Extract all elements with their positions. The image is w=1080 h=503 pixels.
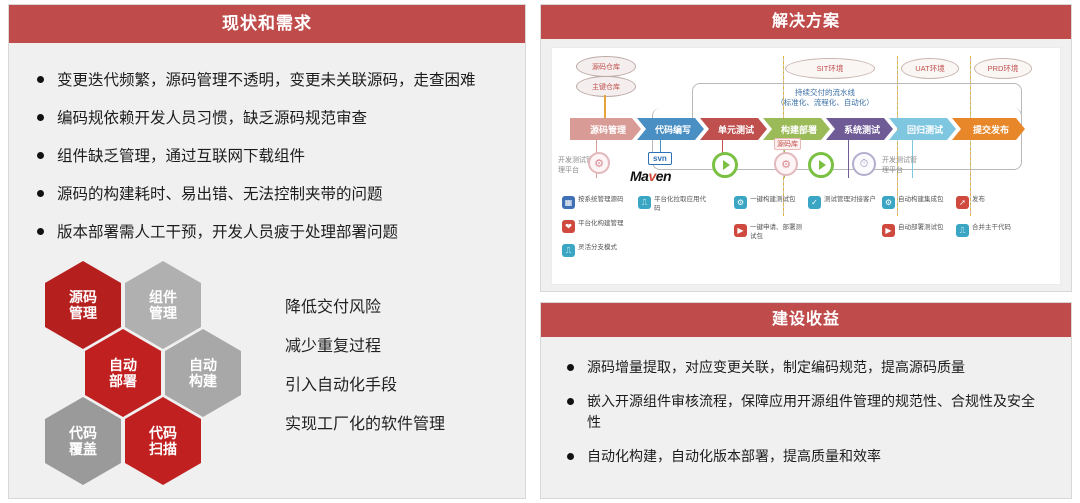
feature-label: 发布 xyxy=(972,196,985,205)
env-ellipse-prd: PRD环境 xyxy=(974,58,1032,79)
solution-pipeline-diagram: 源码仓库 主键仓库 SIT环境 UAT环境 PRD环境 持续交付的流水线 （标准… xyxy=(551,47,1061,285)
list-item: 版本部署需人工干预，开发人员疲于处理部署问题 xyxy=(35,221,503,245)
svn-badge: svn xyxy=(648,152,672,165)
hexagon-label-line1: 代码 xyxy=(69,425,97,441)
panel-current-status: 现状和需求 变更迭代频繁，源码管理不透明，变更未关联源码，走查困难 编码规依赖开… xyxy=(8,4,526,499)
feature-item: ➚ 发布 xyxy=(956,196,985,209)
benefits-bullet-list: 源码增量提取，对应变更关联，制定编码规范，提高源码质量 嵌入开源组件审核流程，保… xyxy=(541,337,1071,468)
hexagon-label-line1: 自动 xyxy=(109,357,137,373)
hexagon-label-line1: 源码 xyxy=(69,289,97,305)
hexagon-auto-deploy: 自动 部署 xyxy=(85,329,161,417)
current-status-bullet-list: 变更迭代频繁，源码管理不透明，变更未关联源码，走查困难 编码规依赖开发人员习惯，… xyxy=(9,43,525,245)
feature-item: ❤ 平台化构建管理 xyxy=(562,220,624,233)
source-repo-tag: 源码库 xyxy=(774,138,801,150)
panel-right-top-title: 解决方案 xyxy=(541,5,1071,39)
play-icon xyxy=(712,152,738,178)
play-icon xyxy=(808,152,834,178)
feature-label: 灵活分支模式 xyxy=(578,244,617,253)
hexagon-label-line2: 管理 xyxy=(69,305,97,321)
hexagon-label-line1: 组件 xyxy=(149,289,177,305)
list-item: 源码增量提取，对应变更关联，制定编码规范，提高源码质量 xyxy=(565,357,1045,379)
pipeline-stage-row: 源码管理 代码编写 单元测试 构建部署 系统测试 回归测试 提交发布 xyxy=(570,118,1021,140)
feature-label: 测试管理对接客户 xyxy=(824,196,876,205)
feature-item: ▦ 按系统管理源码 xyxy=(562,196,624,209)
hexagon-label-line1: 代码 xyxy=(149,425,177,441)
list-item: 变更迭代频繁，源码管理不透明，变更未关联源码，走查困难 xyxy=(35,69,503,93)
env-ellipse-sit: SIT环境 xyxy=(785,58,875,79)
stage-source-management: 源码管理 xyxy=(570,118,641,140)
hexagon-source-code-management: 源码 管理 xyxy=(45,261,121,349)
gauge-icon: ⏱ xyxy=(852,152,876,176)
repo-ellipse-source: 源码仓库 xyxy=(576,56,636,77)
stage-regression-test: 回归测试 xyxy=(889,118,956,140)
benefit-line: 实现工厂化的软件管理 xyxy=(285,410,445,434)
feature-label: 自动部署测试包 xyxy=(898,224,944,233)
stage-code-writing: 代码编写 xyxy=(637,118,704,140)
hexagon-auto-build: 自动 构建 xyxy=(165,329,241,417)
hexagon-code-scan: 代码 扫描 xyxy=(125,397,201,485)
hexagon-component-management: 组件 管理 xyxy=(125,261,201,349)
feature-item: ▶ 自动部署测试包 xyxy=(882,224,944,237)
maven-text-suffix: en xyxy=(656,168,671,184)
feature-item: ⎍ 灵活分支模式 xyxy=(562,244,617,257)
feature-item: ⚙ 自动构建集成包 xyxy=(882,196,944,209)
feature-label: 一键构建测试包 xyxy=(750,196,796,205)
feature-label: 平台化拉取应用代码 xyxy=(654,196,706,214)
hexagon-label-line2: 管理 xyxy=(149,305,177,321)
hexagon-label-line2: 部署 xyxy=(109,373,137,389)
feature-label: 自动构建集成包 xyxy=(898,196,944,205)
feature-item: ⎍ 合并主干代码 xyxy=(956,224,1011,237)
hexagon-label-line2: 扫描 xyxy=(149,441,177,457)
wrench-icon: ⚙ xyxy=(882,196,895,209)
stage-dropline-5 xyxy=(848,140,849,178)
branch-icon: ⎍ xyxy=(956,224,969,237)
stage-build-deploy: 构建部署 xyxy=(763,118,830,140)
checklist-icon: ✓ xyxy=(808,196,821,209)
feature-label: 合并主干代码 xyxy=(972,224,1011,233)
maven-text-accent: v xyxy=(648,168,655,184)
stage-system-test: 系统测试 xyxy=(826,118,893,140)
hexagon-label-line2: 覆盖 xyxy=(69,441,97,457)
hexagon-label-line1: 自动 xyxy=(189,357,217,373)
branch-icon: ⎍ xyxy=(638,196,651,209)
play-icon: ▶ xyxy=(882,224,895,237)
benefit-line: 降低交付风险 xyxy=(285,293,445,317)
list-item: 组件缺乏管理，通过互联网下载组件 xyxy=(35,145,503,169)
grid-icon: ▦ xyxy=(562,196,575,209)
platform-label-right: 开发测试管理平台 xyxy=(882,156,922,176)
slide-root: 现状和需求 变更迭代频繁，源码管理不透明，变更未关联源码，走查困难 编码规依赖开… xyxy=(0,0,1080,503)
feature-item: ⎍ 平台化拉取应用代码 xyxy=(638,196,706,214)
feature-item: ▶ 一键申请、部署测试包 xyxy=(734,224,802,242)
list-item: 自动化构建，自动化版本部署，提高质量和效率 xyxy=(565,446,1045,468)
feature-label: 按系统管理源码 xyxy=(578,196,624,205)
heart-gear-icon: ❤ xyxy=(562,220,575,233)
list-item: 嵌入开源组件审核流程，保障应用开源组件管理的规范性、合规性及安全性 xyxy=(565,391,1045,434)
hexagon-cluster: 源码 管理 组件 管理 自动 部署 自动 构建 代码 覆盖 代码 扫描 xyxy=(37,249,267,484)
benefits-text-block: 降低交付风险 减少重复过程 引入自动化手段 实现工厂化的软件管理 xyxy=(285,293,445,449)
list-item: 编码规依赖开发人员习惯，缺乏源码规范审查 xyxy=(35,107,503,131)
panel-construction-benefits: 建设收益 源码增量提取，对应变更关联，制定编码规范，提高源码质量 嵌入开源组件审… xyxy=(540,302,1072,499)
hexagon-code-coverage: 代码 覆盖 xyxy=(45,397,121,485)
maven-logo: Maven xyxy=(630,168,671,184)
gear-icon: ⚙ xyxy=(774,152,798,176)
branch-icon: ⎍ xyxy=(562,244,575,257)
panel-left-title: 现状和需求 xyxy=(9,5,525,43)
repo-ellipse-build: 主键仓库 xyxy=(576,76,636,97)
feature-item: ⚙ 一键构建测试包 xyxy=(734,196,796,209)
repo-connector-stem xyxy=(604,95,606,118)
play-icon: ▶ xyxy=(734,224,747,237)
feature-item: ✓ 测试管理对接客户 xyxy=(808,196,876,209)
panel-right-bottom-title: 建设收益 xyxy=(541,303,1071,337)
benefit-line: 引入自动化手段 xyxy=(285,371,445,395)
stage-submit-release: 提交发布 xyxy=(952,118,1025,140)
hexagon-label-line2: 构建 xyxy=(189,373,217,389)
gear-icon: ⚙ xyxy=(588,152,610,174)
feature-label: 平台化构建管理 xyxy=(578,220,624,229)
list-item: 源码的构建耗时、易出错、无法控制夹带的问题 xyxy=(35,183,503,207)
feature-label: 一键申请、部署测试包 xyxy=(750,224,802,242)
env-ellipse-uat: UAT环境 xyxy=(901,58,959,79)
panel-solution: 解决方案 源码仓库 主键仓库 SIT环境 UAT环境 PRD环境 持续交付的流水… xyxy=(540,4,1072,292)
benefit-line: 减少重复过程 xyxy=(285,332,445,356)
maven-text-prefix: Ma xyxy=(630,168,648,184)
stage-unit-test: 单元测试 xyxy=(700,118,767,140)
wrench-icon: ⚙ xyxy=(734,196,747,209)
rocket-icon: ➚ xyxy=(956,196,969,209)
